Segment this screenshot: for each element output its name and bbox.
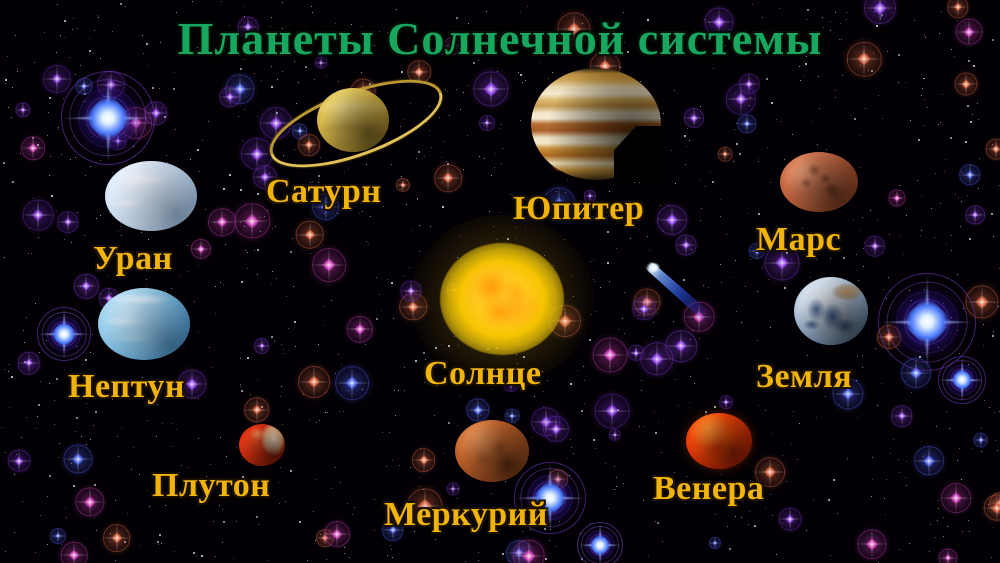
sparkle-core-icon <box>722 151 728 157</box>
sparkle-beam-icon <box>965 214 985 215</box>
star-burst-spike-icon <box>926 275 928 369</box>
label-pluto: Плутон <box>152 467 270 505</box>
sparkle-star-icon <box>195 243 207 255</box>
sparkle-halo-icon <box>469 67 513 111</box>
sparkle-beam-icon <box>346 329 375 330</box>
sparkle-ring-icon <box>298 366 330 398</box>
sparkle-beam-icon <box>17 363 41 364</box>
sparkle-star-icon <box>148 106 163 121</box>
sparkle-halo-icon <box>654 201 691 238</box>
sparkle-ring-icon <box>684 301 715 332</box>
sparkle-beam-icon <box>686 234 687 256</box>
sparkle-halo-icon <box>100 522 134 556</box>
sparkle-beam-icon <box>720 402 734 403</box>
sparkle-core-icon <box>962 80 971 89</box>
sparkle-star-icon <box>947 488 966 507</box>
sparkle-beam-icon <box>21 148 46 149</box>
sparkle-beam-icon <box>770 456 771 489</box>
sparkle-beam-icon <box>336 520 337 548</box>
sparkle-halo-icon <box>49 527 67 545</box>
sparkle-star-icon <box>249 402 265 418</box>
sparkle-beam-icon <box>528 538 529 563</box>
star-burst-glow-icon <box>890 285 965 360</box>
star-burst-spike-icon <box>549 464 551 533</box>
sparkle-beam-icon <box>253 345 269 346</box>
sparkle-core-icon <box>72 453 84 465</box>
sparkle-beam-icon <box>545 405 546 437</box>
sparkle-beam-icon <box>954 84 979 85</box>
sparkle-ring-icon <box>225 74 254 103</box>
sparkle-beam-icon <box>334 383 371 384</box>
sparkle-beam-icon <box>402 178 403 192</box>
sparkle-beam-icon <box>400 290 422 291</box>
sparkle-ring-icon <box>986 139 1000 160</box>
sparkle-ring-icon <box>608 429 620 441</box>
star-burst-core-icon <box>82 92 134 144</box>
sparkle-beam-icon <box>243 409 271 410</box>
sparkle-ring-icon <box>592 338 627 373</box>
sparkle-beam-icon <box>155 101 156 126</box>
sparkle-ring-icon <box>144 102 167 125</box>
sparkle-core-icon <box>954 3 963 12</box>
sparkle-ring-icon <box>479 115 495 131</box>
sparkle-star-icon <box>662 210 681 229</box>
sparkle-beam-icon <box>466 409 491 410</box>
sparkle-halo-icon <box>630 294 658 322</box>
sparkle-ring-icon <box>531 407 561 437</box>
sparkle-ring-icon <box>109 132 127 150</box>
sparkle-halo-icon <box>478 114 496 132</box>
sparkle-beam-icon <box>983 507 1000 508</box>
sparkle-beam-icon <box>871 528 872 560</box>
sparkle-core-icon <box>743 120 751 128</box>
sparkle-star-icon <box>213 213 231 231</box>
sparkle-beam-icon <box>612 391 613 430</box>
sparkle-core-icon <box>55 533 61 539</box>
sparkle-core-icon <box>186 378 198 390</box>
page-title: Планеты Солнечной системы <box>0 12 1000 65</box>
sparkle-star-icon <box>412 65 427 80</box>
sparkle-beam-icon <box>230 85 231 107</box>
sparkle-ring-icon <box>966 205 985 224</box>
sparkle-core-icon <box>251 405 262 416</box>
sparkle-core-icon <box>602 348 617 363</box>
sparkle-ring-icon <box>632 297 656 321</box>
sparkle-halo-icon <box>332 363 373 404</box>
sparkle-core-icon <box>682 241 690 249</box>
sparkle-ring-icon <box>473 71 508 106</box>
sparkle-beam-icon <box>675 244 697 245</box>
star-burst-glow-icon <box>72 82 144 154</box>
solar-system-poster: Планеты Солнечной системы СолнцеМеркурий… <box>0 0 1000 563</box>
sparkle-star-icon <box>125 113 146 134</box>
sparkle-ring-icon <box>984 494 1000 521</box>
sparkle-beam-icon <box>948 548 949 563</box>
sparkle-beam-icon <box>609 336 610 375</box>
sparkle-core-icon <box>650 352 664 366</box>
sparkle-halo-icon <box>681 298 718 335</box>
sparkle-ring-icon <box>61 542 88 563</box>
star-burst-ring-icon <box>47 317 81 351</box>
star-burst-cross-icon <box>878 273 976 371</box>
sparkle-beam-icon <box>973 440 988 441</box>
sparkle-star-icon <box>405 284 418 297</box>
sparkle-halo-icon <box>972 432 989 449</box>
sparkle-halo-icon <box>55 209 81 235</box>
sparkle-beam-icon <box>980 433 981 448</box>
sparkle-beam-icon <box>89 486 90 518</box>
sparkle-beam-icon <box>966 72 967 97</box>
star-burst-cross-icon <box>939 357 986 404</box>
sparkle-star-icon <box>963 168 976 181</box>
sparkle-halo-icon <box>74 77 93 96</box>
sparkle-beam-icon <box>86 273 87 299</box>
venus-shadow-icon <box>686 413 752 469</box>
sparkle-beam-icon <box>296 382 331 383</box>
sparkle-star-icon <box>508 411 517 420</box>
sparkle-beam-icon <box>256 396 257 424</box>
sparkle-star-icon <box>631 348 641 358</box>
sparkle-beam-icon <box>62 459 94 460</box>
sparkle-star-icon <box>646 348 668 370</box>
sparkle-halo-icon <box>964 204 987 227</box>
sparkle-ring-icon <box>888 190 905 207</box>
sparkle-beam-icon <box>433 177 463 178</box>
sparkle-core-icon <box>509 413 515 419</box>
sparkle-halo-icon <box>938 480 974 516</box>
sparkle-core-icon <box>944 554 952 562</box>
sparkle-core-icon <box>331 529 342 540</box>
sparkle-halo-icon <box>344 313 376 345</box>
sparkle-beam-icon <box>628 353 645 354</box>
sparkle-halo-icon <box>722 81 759 118</box>
sparkle-core-icon <box>15 456 24 465</box>
sparkle-beam-icon <box>699 300 700 333</box>
sparkle-core-icon <box>734 93 747 106</box>
sparkle-beam-icon <box>505 415 520 416</box>
sparkle-core-icon <box>712 541 717 546</box>
sparkle-beam-icon <box>486 115 487 131</box>
star-burst-ring-icon <box>947 365 978 396</box>
sparkle-beam-icon <box>315 537 334 538</box>
sparkle-halo-icon <box>292 217 327 252</box>
sparkle-core-icon <box>321 534 328 541</box>
sparkle-star-icon <box>639 293 656 310</box>
sparkle-core-icon <box>884 333 894 343</box>
sparkle-star-icon <box>18 105 27 114</box>
sparkle-core-icon <box>63 218 72 227</box>
sparkle-star-icon <box>741 118 753 130</box>
sparkle-beam-icon <box>7 460 31 461</box>
sparkle-beam-icon <box>530 421 562 422</box>
sparkle-halo-icon <box>627 344 646 363</box>
sparkle-star-icon <box>12 454 26 468</box>
sparkle-beam-icon <box>239 73 240 105</box>
sparkle-star-icon <box>976 436 985 445</box>
label-saturn: Сатурн <box>266 173 381 211</box>
sparkle-star-icon <box>536 412 555 431</box>
sparkle-halo-icon <box>308 244 350 286</box>
sparkle-beam-icon <box>118 123 153 124</box>
sparkle-halo-icon <box>953 71 980 98</box>
sparkle-star-icon <box>891 193 901 203</box>
star-burst-icon <box>578 523 622 563</box>
sparkle-ring-icon <box>959 164 980 185</box>
uranus-planet-icon <box>105 161 197 231</box>
sparkle-star-icon <box>79 279 94 294</box>
sparkle-beam-icon <box>219 96 241 97</box>
sparkle-halo-icon <box>719 395 734 410</box>
sparkle-halo-icon <box>72 484 108 520</box>
label-mercury: Меркурий <box>384 496 548 534</box>
sparkle-beam-icon <box>453 483 454 496</box>
comet-tail-icon <box>645 262 715 324</box>
sparkle-beam-icon <box>261 337 262 353</box>
sparkle-beam-icon <box>190 249 211 250</box>
sparkle-ring-icon <box>676 234 697 255</box>
sparkle-star-icon <box>993 496 1000 509</box>
sparkle-halo-icon <box>631 285 664 318</box>
sparkle-star-icon <box>731 89 751 109</box>
sparkle-halo-icon <box>107 130 128 151</box>
sparkle-ring-icon <box>708 537 720 549</box>
sparkle-halo-icon <box>446 482 460 496</box>
sparkle-star-icon <box>687 111 699 123</box>
sparkle-core-icon <box>419 455 429 465</box>
sparkle-ring-icon <box>63 445 92 474</box>
sparkle-beam-icon <box>28 351 29 375</box>
sparkle-star-icon <box>257 341 267 351</box>
sparkle-halo-icon <box>889 403 915 429</box>
sparkle-star-icon <box>28 205 48 225</box>
sparkle-beam-icon <box>491 69 492 108</box>
sparkle-beam-icon <box>636 345 637 362</box>
sparkle-beam-icon <box>593 410 632 411</box>
sparkle-star-icon <box>919 451 938 470</box>
sparkle-ring-icon <box>254 338 270 354</box>
sparkle-ring-icon <box>447 483 460 496</box>
sparkle-beam-icon <box>207 222 237 223</box>
sparkle-beam-icon <box>58 528 59 544</box>
sparkle-ring-icon <box>324 521 350 547</box>
sparkle-halo-icon <box>60 442 95 477</box>
sparkle-core-icon <box>20 107 26 113</box>
sparkle-beam-icon <box>84 78 85 95</box>
star-burst-spike-icon <box>599 523 601 563</box>
sparkle-core-icon <box>871 242 879 250</box>
sparkle-ring-icon <box>244 397 270 423</box>
sparkle-beam-icon <box>888 198 906 199</box>
sparkle-star-icon <box>341 372 363 394</box>
sparkle-beam-icon <box>997 493 998 522</box>
sparkle-beam-icon <box>609 434 621 435</box>
sparkle-ring-icon <box>543 416 569 442</box>
sparkle-beam-icon <box>200 239 201 260</box>
sparkle-star-icon <box>399 180 407 188</box>
sparkle-halo-icon <box>546 468 569 491</box>
sparkle-ring-icon <box>665 330 696 361</box>
sparkle-beam-icon <box>252 201 253 240</box>
sparkle-beam-icon <box>633 301 662 302</box>
sparkle-halo-icon <box>910 442 946 478</box>
sparkle-star-icon <box>722 398 730 406</box>
earth-planet-icon <box>794 277 868 345</box>
sparkle-beam-icon <box>656 219 689 220</box>
sparkle-beam-icon <box>956 482 957 515</box>
sparkle-core-icon <box>414 67 424 77</box>
sparkle-star-icon <box>671 336 691 356</box>
sparkle-ring-icon <box>865 236 886 257</box>
star-burst-spike-icon <box>578 544 621 546</box>
sparkle-halo-icon <box>636 338 677 379</box>
sparkle-core-icon <box>250 147 264 161</box>
sparkle-ring-icon <box>973 433 988 448</box>
mercury-planet-icon <box>455 420 529 482</box>
sparkle-star-icon <box>552 473 564 485</box>
sparkle-halo-icon <box>854 526 890 562</box>
sparkle-halo-icon <box>682 106 706 130</box>
sparkle-star-icon <box>869 240 882 253</box>
sparkle-beam-icon <box>448 163 449 193</box>
star-burst-icon <box>62 72 154 164</box>
sparkle-beam-icon <box>22 102 23 117</box>
sparkle-ring-icon <box>778 508 801 531</box>
sparkle-core-icon <box>197 245 205 253</box>
sparkle-ring-icon <box>75 487 104 516</box>
sparkle-core-icon <box>639 304 649 314</box>
sparkle-ring-icon <box>512 539 545 563</box>
star-burst-icon <box>939 357 985 403</box>
sparkle-beam-icon <box>256 136 257 171</box>
sparkle-core-icon <box>764 466 776 478</box>
sparkle-halo-icon <box>957 162 983 188</box>
jupiter-planet-icon <box>531 68 661 180</box>
sparkle-ring-icon <box>23 200 54 231</box>
sparkle-core-icon <box>234 83 246 95</box>
sparkle-star-icon <box>548 421 565 438</box>
star-burst-glow-icon <box>583 528 617 562</box>
sparkle-beam-icon <box>899 373 932 374</box>
sparkle-star-icon <box>318 254 340 276</box>
sparkle-star-icon <box>304 372 325 393</box>
sparkle-core-icon <box>522 549 536 563</box>
sparkle-beam-icon <box>739 83 760 84</box>
sparkle-ring-icon <box>50 528 66 544</box>
star-burst-ring-icon <box>577 522 623 563</box>
sparkle-star-icon <box>352 321 369 338</box>
sparkle-ring-icon <box>97 71 125 99</box>
sparkle-beam-icon <box>33 136 34 161</box>
sparkle-ring-icon <box>914 446 944 476</box>
sparkle-star-icon <box>79 81 89 91</box>
sparkle-core-icon <box>245 214 260 229</box>
sparkle-beam-icon <box>647 287 648 316</box>
star-burst-core-icon <box>900 295 954 349</box>
sparkle-halo-icon <box>14 101 31 118</box>
sparkle-beam-icon <box>643 296 644 321</box>
sparkle-halo-icon <box>397 290 431 324</box>
sparkle-halo-icon <box>590 389 633 432</box>
sparkle-halo-icon <box>662 327 701 366</box>
mars-planet-icon <box>780 152 858 212</box>
sparkle-core-icon <box>32 208 45 221</box>
star-burst-ring-icon <box>581 526 619 563</box>
sparkle-ring-icon <box>891 405 913 427</box>
sparkle-star-icon <box>711 540 718 547</box>
sparkle-beam-icon <box>506 553 534 554</box>
sparkle-ring-icon <box>18 352 40 374</box>
sparkle-ring-icon <box>400 293 428 321</box>
sparkle-core-icon <box>633 350 639 356</box>
sparkle-ring-icon <box>634 288 661 315</box>
star-burst-ring-icon <box>78 88 137 147</box>
sparkle-star-icon <box>680 238 693 251</box>
sparkle-beam-icon <box>519 539 520 563</box>
sparkle-beam-icon <box>565 303 566 338</box>
neptune-planet-icon <box>98 288 190 360</box>
pluto-planet-icon <box>239 424 285 466</box>
small-star-dots-bright <box>0 0 2 2</box>
sparkle-ring-icon <box>548 469 568 489</box>
sparkle-beam-icon <box>901 405 902 428</box>
sparkle-beam-icon <box>996 138 997 160</box>
sparkle-beam-icon <box>67 211 68 234</box>
sparkle-halo-icon <box>252 336 270 354</box>
sparkle-ring-icon <box>725 84 755 114</box>
star-burst-ring-icon <box>887 282 968 363</box>
sparkle-beam-icon <box>423 447 424 473</box>
sparkle-star-icon <box>102 76 120 94</box>
sparkle-beam-icon <box>638 358 675 359</box>
sparkle-star-icon <box>611 431 618 438</box>
sparkle-ring-icon <box>737 114 756 133</box>
sparkle-ring-icon <box>209 208 237 236</box>
sparkle-star-icon <box>439 169 457 187</box>
sparkle-star-icon <box>26 141 41 156</box>
sparkle-star-icon <box>230 80 249 99</box>
sparkle-star-icon <box>689 307 709 327</box>
sparkle-halo-icon <box>735 112 758 135</box>
sparkle-star-icon <box>183 375 202 394</box>
sparkle-ring-icon <box>718 147 732 161</box>
sparkle-core-icon <box>992 145 1000 153</box>
sparkle-beam-icon <box>940 497 973 498</box>
sparkle-core-icon <box>975 295 989 309</box>
sparkle-beam-icon <box>50 535 66 536</box>
sparkle-core-icon <box>408 301 420 313</box>
sparkle-halo-icon <box>399 278 424 303</box>
sparkle-beam-icon <box>352 365 353 402</box>
sparkle-halo-icon <box>717 146 733 162</box>
sparkle-halo-icon <box>294 363 333 402</box>
sparkle-star-icon <box>518 545 539 563</box>
sparkle-halo-icon <box>222 71 258 107</box>
sparkle-beam-icon <box>478 397 479 422</box>
sun-core-icon <box>466 267 538 332</box>
star-burst-icon <box>38 308 90 360</box>
sparkle-core-icon <box>258 342 264 348</box>
sparkle-beam-icon <box>310 265 347 266</box>
sparkle-beam-icon <box>74 501 106 502</box>
sparkle-core-icon <box>354 324 365 335</box>
sparkle-core-icon <box>910 367 923 380</box>
sparkle-core-icon <box>111 533 123 545</box>
sparkle-beam-icon <box>746 113 747 133</box>
sparkle-beam-icon <box>683 316 716 317</box>
sparkle-star-icon <box>721 150 730 159</box>
sparkle-star-icon <box>246 143 267 164</box>
sparkle-beam-icon <box>958 174 981 175</box>
